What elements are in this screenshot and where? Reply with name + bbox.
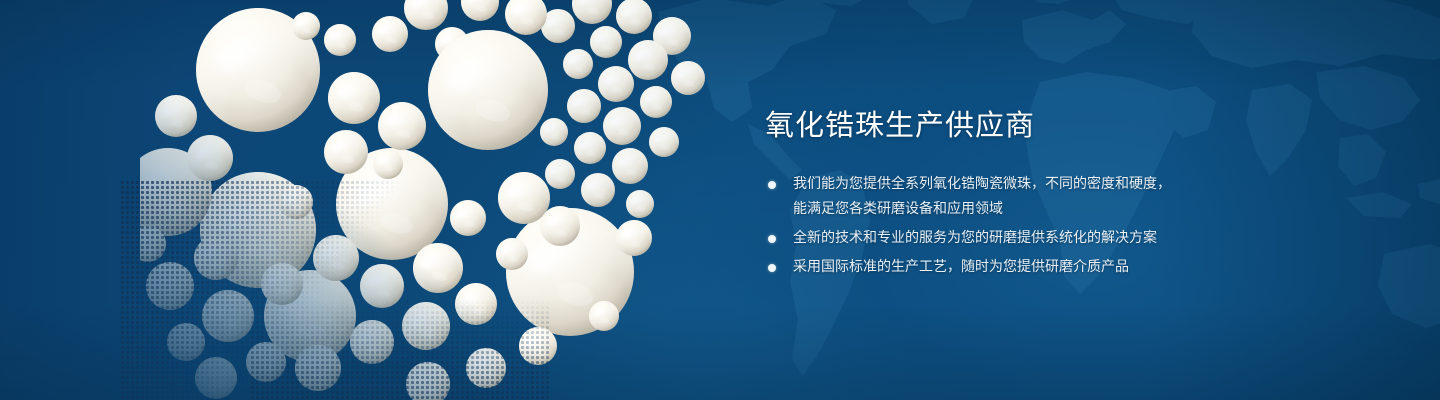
- bullet-dot-icon: [768, 235, 776, 243]
- bead-cluster: [124, 0, 705, 400]
- banner-copy: 氧化锆珠生产供应商 我们能为您提供全系列氧化锆陶瓷微珠，不同的密度和硬度， 能满…: [765, 104, 1365, 284]
- feature-item-1: 我们能为您提供全系列氧化锆陶瓷微珠，不同的密度和硬度， 能满足您各类研磨设备和应…: [765, 172, 1365, 222]
- feature-item-3: 采用国际标准的生产工艺，随时为您提供研磨介质产品: [765, 255, 1365, 280]
- feature-item-1-line-2: 能满足您各类研磨设备和应用领域: [793, 197, 1365, 222]
- zirconia-beads-image: [140, 0, 720, 400]
- feature-item-2-line-1: 全新的技术和专业的服务为您的研磨提供系统化的解决方案: [793, 230, 1157, 246]
- feature-item-1-line-1: 我们能为您提供全系列氧化锆陶瓷微珠，不同的密度和硬度，: [793, 176, 1171, 192]
- feature-item-3-line-1: 采用国际标准的生产工艺，随时为您提供研磨介质产品: [793, 259, 1129, 275]
- hero-banner: 氧化锆珠生产供应商 我们能为您提供全系列氧化锆陶瓷微珠，不同的密度和硬度， 能满…: [0, 0, 1440, 400]
- bullet-dot-icon: [768, 264, 776, 272]
- banner-headline: 氧化锆珠生产供应商: [765, 104, 1365, 146]
- feature-item-2: 全新的技术和专业的服务为您的研磨提供系统化的解决方案: [765, 226, 1365, 251]
- bullet-dot-icon: [768, 181, 776, 189]
- feature-list: 我们能为您提供全系列氧化锆陶瓷微珠，不同的密度和硬度， 能满足您各类研磨设备和应…: [765, 172, 1365, 280]
